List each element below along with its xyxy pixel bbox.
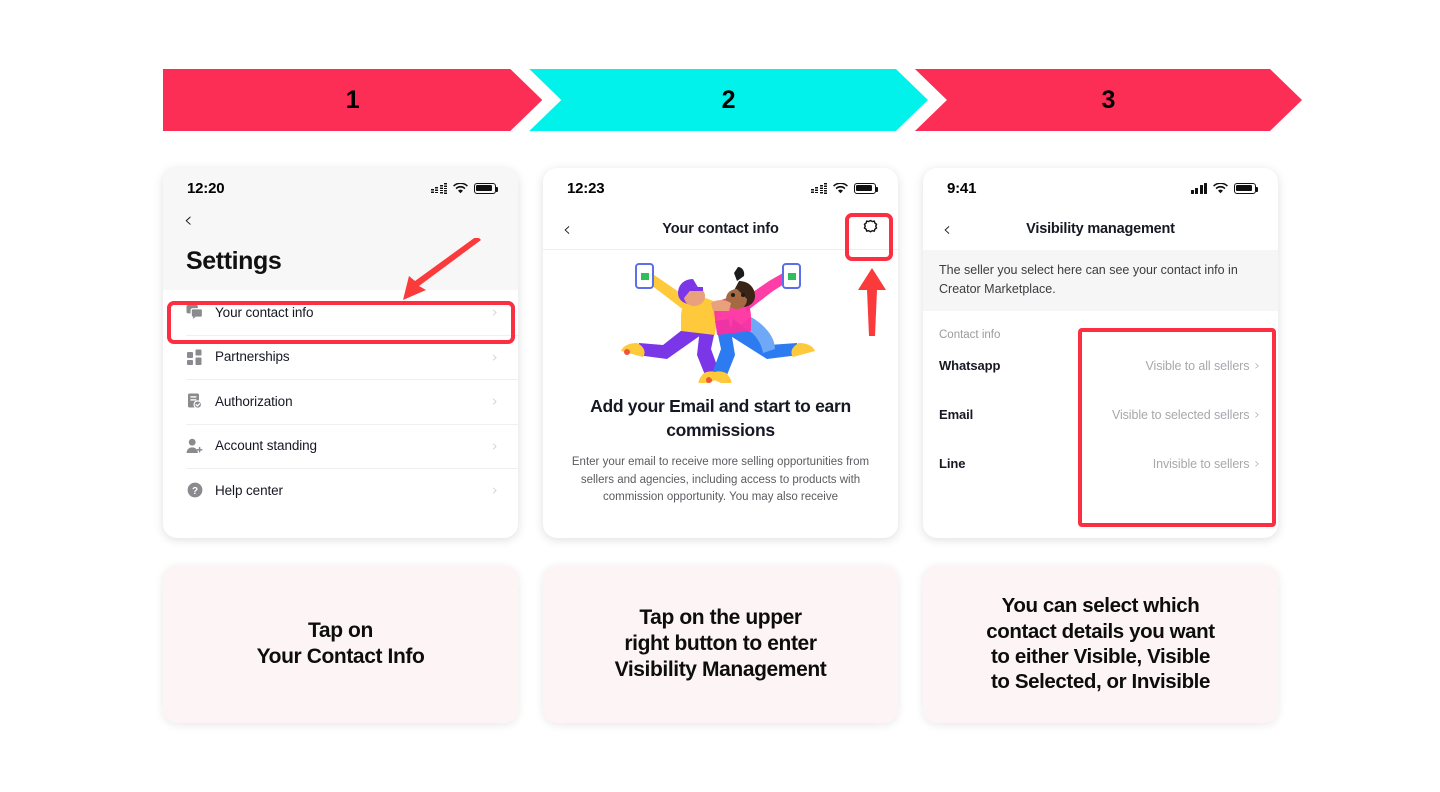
step-number-1: 1 (346, 86, 360, 115)
phone-screenshot-contact-info: 12:23 ‹ Your contact info (543, 168, 898, 538)
page-title: Your contact info (543, 221, 898, 237)
chevron-right-icon: › (1254, 456, 1260, 472)
step-number-3: 3 (1102, 86, 1116, 115)
row-value: Visible to selected sellers (1112, 408, 1249, 422)
wifi-icon (1213, 183, 1228, 194)
caption-card-step-1: Tap on Your Contact Info (163, 565, 518, 723)
status-time: 12:20 (187, 180, 224, 197)
caption-text: Tap on the upper right button to enter V… (615, 605, 827, 683)
chevron-right-icon: › (1254, 358, 1260, 374)
row-value: Visible to all sellers (1146, 359, 1250, 373)
sidebar-item-account-standing[interactable]: Account standing › (163, 424, 518, 469)
signal-bars-icon (1191, 183, 1208, 194)
status-icons (431, 183, 497, 194)
page-title: Visibility management (923, 221, 1278, 237)
row-key: Whatsapp (939, 358, 1000, 373)
signal-dots-icon (431, 183, 448, 194)
chevron-right-icon: › (492, 481, 498, 499)
chat-bubbles-icon (186, 304, 203, 321)
step-number-2: 2 (722, 86, 736, 115)
status-time: 9:41 (947, 180, 976, 197)
step-chevron-3: 3 (915, 69, 1302, 131)
caption-card-step-3: You can select which contact details you… (923, 565, 1278, 723)
status-icons (1191, 183, 1257, 194)
battery-icon (474, 183, 496, 194)
promo-heading: Add your Email and start to earn commiss… (543, 385, 898, 442)
info-note: The seller you select here can see your … (923, 250, 1278, 311)
chevron-right-icon: › (492, 348, 498, 366)
promo-body-text: Enter your email to receive more selling… (543, 442, 898, 506)
step-chevron-2: 2 (529, 69, 928, 131)
grid-squares-icon (186, 348, 203, 365)
sidebar-item-label: Partnerships (215, 349, 492, 364)
section-label-contact-info: Contact info (923, 311, 1278, 341)
phone-screenshot-settings: 12:20 ‹ Settings (163, 168, 518, 538)
row-key: Line (939, 456, 965, 471)
status-bar: 12:23 (543, 168, 898, 208)
sidebar-item-authorization[interactable]: Authorization › (163, 379, 518, 424)
chevron-right-icon: › (1254, 407, 1260, 423)
back-button[interactable]: ‹ (163, 208, 518, 231)
row-key: Email (939, 407, 973, 422)
gear-icon[interactable] (861, 217, 880, 241)
chevron-right-icon: › (492, 392, 498, 410)
sidebar-item-label: Authorization (215, 394, 492, 409)
phone-screenshot-visibility-management: 9:41 ‹ Visibility management The seller … (923, 168, 1278, 538)
nav-bar: ‹ Visibility management (923, 208, 1278, 250)
signal-dots-icon (811, 183, 828, 194)
settings-list: Your contact info › Partnerships › (163, 290, 518, 513)
annotation-arrow-down-left (393, 238, 483, 308)
battery-icon (854, 183, 876, 194)
sidebar-item-help-center[interactable]: ? Help center › (163, 468, 518, 513)
wifi-icon (453, 183, 468, 194)
status-time: 12:23 (567, 180, 604, 197)
chevron-right-icon: › (492, 437, 498, 455)
question-circle-icon: ? (186, 482, 203, 499)
person-add-icon (186, 437, 203, 454)
annotation-arrow-up (852, 266, 892, 338)
status-bar: 12:20 (163, 168, 518, 208)
two-people-with-phones-illustration (543, 250, 898, 385)
wifi-icon (833, 183, 848, 194)
step-chevron-1: 1 (163, 69, 542, 131)
row-value: Invisible to sellers (1153, 457, 1250, 471)
sidebar-item-label: Help center (215, 483, 492, 498)
caption-text: Tap on Your Contact Info (257, 618, 425, 670)
status-icons (811, 183, 877, 194)
status-bar: 9:41 (923, 168, 1278, 208)
nav-bar: ‹ Your contact info (543, 208, 898, 250)
sidebar-item-partnerships[interactable]: Partnerships › (163, 335, 518, 380)
visibility-row-email[interactable]: Email Visible to selected sellers › (923, 390, 1278, 439)
svg-text:?: ? (191, 486, 197, 497)
document-check-icon (186, 393, 203, 410)
caption-text: You can select which contact details you… (986, 593, 1214, 695)
caption-card-step-2: Tap on the upper right button to enter V… (543, 565, 898, 723)
sidebar-item-label: Account standing (215, 438, 492, 453)
battery-icon (1234, 183, 1256, 194)
visibility-row-line[interactable]: Line Invisible to sellers › (923, 439, 1278, 488)
visibility-row-whatsapp[interactable]: Whatsapp Visible to all sellers › (923, 341, 1278, 390)
step-banner: 1 2 3 (163, 69, 1302, 131)
chevron-right-icon: › (492, 303, 498, 321)
